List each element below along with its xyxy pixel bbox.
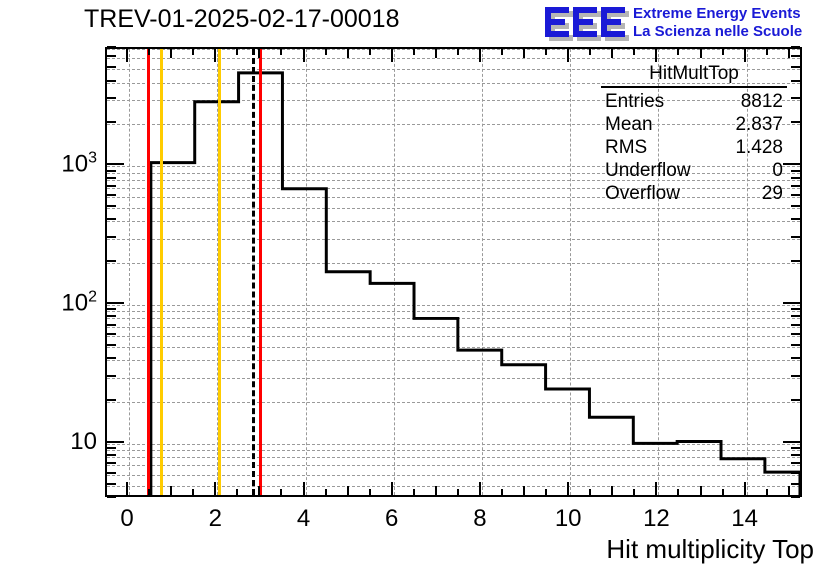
stats-row: Overflow29 xyxy=(601,182,787,205)
y-tick-right xyxy=(791,185,800,187)
y-tick-right xyxy=(791,462,800,464)
eee-logo-line2: La Scienza nelle Scuole xyxy=(633,23,802,41)
y-tick-right xyxy=(791,121,800,123)
y-tick-right xyxy=(791,236,800,238)
stats-row-label: Mean xyxy=(605,113,653,136)
y-tick xyxy=(107,194,116,196)
y-tick xyxy=(107,260,116,262)
x-tick-top xyxy=(523,49,525,58)
y-tick xyxy=(107,447,116,449)
x-tick xyxy=(700,486,702,495)
x-tick xyxy=(633,489,635,495)
y-tick-right xyxy=(791,55,800,57)
y-tick-right xyxy=(791,333,800,335)
x-tick-top xyxy=(655,49,657,62)
x-tick xyxy=(479,482,481,495)
stats-row-label: RMS xyxy=(605,136,647,159)
y-tick xyxy=(107,324,116,326)
x-tick-top xyxy=(633,49,635,55)
x-tick-top xyxy=(611,49,613,58)
y-tick xyxy=(107,80,116,82)
y-tick-right xyxy=(791,194,800,196)
y-tick-right xyxy=(791,447,800,449)
y-tick-right xyxy=(791,177,800,179)
y-tick-label: 102 xyxy=(61,289,97,318)
x-tick-top xyxy=(391,49,393,62)
x-tick-top xyxy=(677,49,679,55)
y-tick xyxy=(107,121,116,123)
x-tick-top xyxy=(435,49,437,58)
y-tick-right xyxy=(791,399,800,401)
root-canvas: TREV-01-2025-02-17-00018 Extreme Energy … xyxy=(0,0,836,572)
y-tick-right xyxy=(791,66,800,68)
y-tick-right xyxy=(791,80,800,82)
y-tick-label: 10 xyxy=(70,428,97,456)
page-title: TREV-01-2025-02-17-00018 xyxy=(84,5,399,34)
x-tick-label: 0 xyxy=(120,505,133,533)
x-tick-top xyxy=(280,49,282,55)
x-tick xyxy=(325,489,327,495)
y-tick xyxy=(107,66,116,68)
y-tick xyxy=(107,454,116,456)
y-tick xyxy=(107,177,116,179)
x-tick xyxy=(303,482,305,495)
x-tick xyxy=(677,489,679,495)
stats-box: HitMultTop Entries8812Mean2.837RMS1.428U… xyxy=(601,63,787,205)
y-tick xyxy=(107,399,116,401)
x-tick xyxy=(280,489,282,495)
y-tick xyxy=(107,218,116,220)
x-tick xyxy=(258,486,260,495)
y-tick-right xyxy=(791,454,800,456)
stats-row: Entries8812 xyxy=(601,90,787,113)
y-tick xyxy=(107,483,116,485)
stats-title: HitMultTop xyxy=(601,63,787,86)
x-tick xyxy=(236,489,238,495)
stats-row-label: Entries xyxy=(605,90,664,113)
x-tick-label: 12 xyxy=(643,505,670,533)
x-tick-top xyxy=(214,49,216,62)
x-tick xyxy=(148,489,150,495)
y-tick xyxy=(107,46,116,48)
y-tick xyxy=(107,357,116,359)
stats-row-value: 0 xyxy=(772,159,783,182)
x-tick xyxy=(655,482,657,495)
marker-gold-left xyxy=(160,49,163,495)
x-tick xyxy=(545,489,547,495)
stats-divider xyxy=(601,86,787,88)
stats-row-value: 29 xyxy=(762,182,783,205)
y-tick-right xyxy=(791,375,800,377)
y-tick xyxy=(107,55,116,57)
y-tick-right xyxy=(791,472,800,474)
stats-row: Mean2.837 xyxy=(601,113,787,136)
y-tick xyxy=(107,170,116,172)
x-tick xyxy=(126,482,128,495)
y-tick-right xyxy=(791,324,800,326)
x-tick-top xyxy=(722,49,724,55)
x-tick-top xyxy=(258,49,260,58)
x-tick xyxy=(170,486,172,495)
x-tick xyxy=(347,486,349,495)
x-tick-top xyxy=(413,49,415,55)
x-tick-top xyxy=(501,49,503,55)
x-tick-top xyxy=(788,49,790,58)
x-tick xyxy=(523,486,525,495)
x-tick-label: 6 xyxy=(385,505,398,533)
marker-red-left xyxy=(147,49,150,495)
stats-row-value: 8812 xyxy=(741,90,783,113)
stats-row-label: Overflow xyxy=(605,182,680,205)
y-tick xyxy=(107,205,116,207)
x-tick-top xyxy=(170,49,172,58)
x-tick xyxy=(744,482,746,495)
y-tick-right xyxy=(791,315,800,317)
x-tick xyxy=(192,489,194,495)
stats-row-value: 1.428 xyxy=(735,136,783,159)
y-tick xyxy=(107,462,116,464)
x-tick-top xyxy=(236,49,238,55)
x-tick xyxy=(457,489,459,495)
y-tick xyxy=(107,185,116,187)
x-tick xyxy=(391,482,393,495)
x-tick-top xyxy=(192,49,194,55)
y-tick xyxy=(107,308,116,310)
y-tick-label: 103 xyxy=(61,150,97,179)
x-tick-top xyxy=(589,49,591,55)
y-tick xyxy=(107,236,116,238)
x-tick-top xyxy=(126,49,128,62)
x-tick-label: 2 xyxy=(209,505,222,533)
y-tick xyxy=(107,496,116,498)
x-tick xyxy=(369,489,371,495)
x-tick-top xyxy=(325,49,327,55)
y-tick xyxy=(107,375,116,377)
x-tick-top xyxy=(766,49,768,55)
x-tick-top xyxy=(303,49,305,62)
x-tick-label: 8 xyxy=(473,505,486,533)
x-tick-top xyxy=(545,49,547,55)
x-tick-top xyxy=(369,49,371,55)
y-tick xyxy=(107,344,116,346)
y-tick-right xyxy=(783,302,800,304)
y-tick xyxy=(107,302,124,304)
x-tick xyxy=(214,482,216,495)
x-tick-label: 14 xyxy=(731,505,758,533)
eee-logo: Extreme Energy Events La Scienza nelle S… xyxy=(545,4,833,44)
y-tick-right xyxy=(791,344,800,346)
x-tick-top xyxy=(744,49,746,62)
stats-row: RMS1.428 xyxy=(601,136,787,159)
y-tick-right xyxy=(791,218,800,220)
x-tick xyxy=(766,489,768,495)
x-tick xyxy=(567,482,569,495)
x-tick-top xyxy=(567,49,569,62)
y-tick-right xyxy=(791,170,800,172)
y-tick-right xyxy=(783,441,800,443)
x-tick xyxy=(722,489,724,495)
x-tick xyxy=(435,486,437,495)
y-tick-right xyxy=(791,260,800,262)
marker-red-right xyxy=(259,49,262,495)
y-tick-right xyxy=(791,205,800,207)
y-tick-right xyxy=(791,496,800,498)
y-tick-right xyxy=(791,483,800,485)
stats-row-label: Underflow xyxy=(605,159,691,182)
x-tick-top xyxy=(347,49,349,58)
marker-black-mean xyxy=(252,49,255,495)
eee-letters-icon xyxy=(545,4,631,42)
x-tick xyxy=(501,489,503,495)
x-tick xyxy=(589,489,591,495)
stats-row-value: 2.837 xyxy=(735,113,783,136)
y-tick xyxy=(107,97,116,99)
y-tick-right xyxy=(791,97,800,99)
x-tick-top xyxy=(700,49,702,58)
y-tick xyxy=(107,333,116,335)
x-axis-title: Hit multiplicity Top xyxy=(606,534,814,565)
eee-logo-text: Extreme Energy Events La Scienza nelle S… xyxy=(633,5,802,41)
x-tick-top xyxy=(457,49,459,55)
x-tick-top xyxy=(479,49,481,62)
eee-logo-line1: Extreme Energy Events xyxy=(633,5,802,23)
x-tick xyxy=(788,486,790,495)
y-tick xyxy=(107,472,116,474)
y-tick xyxy=(107,315,116,317)
x-tick xyxy=(413,489,415,495)
x-tick-top xyxy=(148,49,150,55)
marker-gold-right xyxy=(218,49,221,495)
stats-row: Underflow0 xyxy=(601,159,787,182)
x-tick-label: 4 xyxy=(297,505,310,533)
x-tick-label: 10 xyxy=(555,505,582,533)
y-tick xyxy=(107,163,124,165)
y-tick-right xyxy=(791,308,800,310)
y-tick-right xyxy=(791,46,800,48)
x-tick xyxy=(611,486,613,495)
y-tick xyxy=(107,441,124,443)
y-tick-right xyxy=(791,357,800,359)
